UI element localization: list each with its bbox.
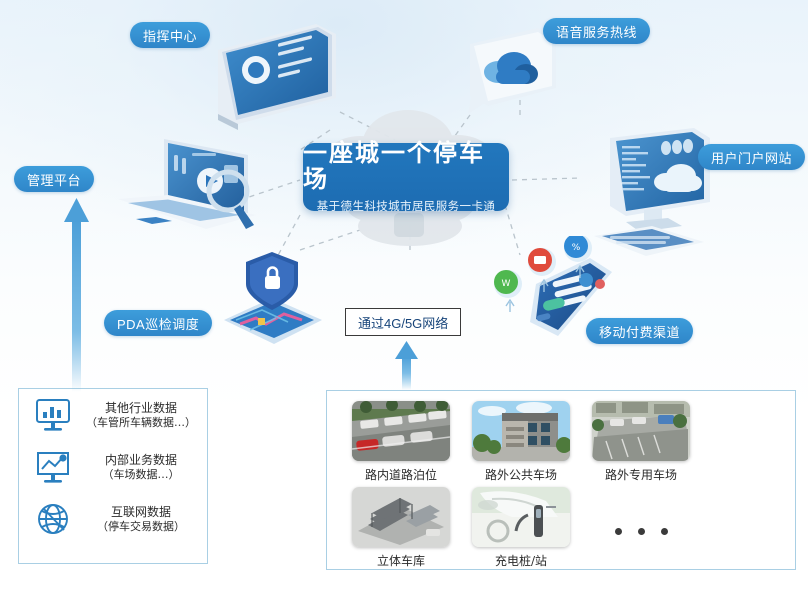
label-command-center[interactable]: 指挥中心 [130, 22, 210, 48]
label-user-portal[interactable]: 用户门户网站 [698, 144, 805, 170]
pda-security-shield-illustration [210, 248, 330, 353]
connector-lines [0, 0, 808, 590]
title-sub: 基于德生科技城市居民服务一卡通 [317, 198, 496, 214]
label-management-platform[interactable]: 管理平台 [14, 166, 94, 192]
label-network: 通过4G/5G网络 [345, 308, 461, 336]
svg-text:W: W [502, 279, 511, 289]
label-mobile-payment[interactable]: 移动付费渠道 [586, 318, 693, 344]
label-voice-hotline[interactable]: 语音服务热线 [543, 18, 650, 44]
infographic-canvas: 一座城一个停车场 基于德生科技城市居民服务一卡通 [0, 0, 808, 590]
label-pda-dispatch[interactable]: PDA巡检调度 [104, 310, 212, 336]
command-center-monitor-illustration [212, 20, 342, 135]
main-title-card: 一座城一个停车场 基于德生科技城市居民服务一卡通 [303, 143, 509, 211]
title-main: 一座城一个停车场 [303, 140, 509, 193]
network-arrow [392, 340, 422, 390]
laptop-illustration [88, 133, 268, 258]
svg-text:%: % [572, 243, 581, 253]
